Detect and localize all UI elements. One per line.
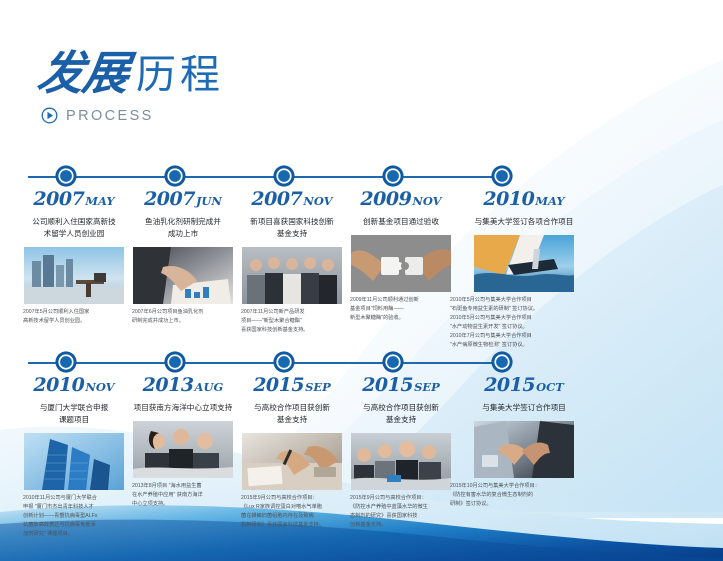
card-heading-line: 术留学人员创业园 xyxy=(22,228,126,240)
card-caption-line: 2015年10月公司与集美大学合作项目： xyxy=(450,482,598,491)
card-year: 2015 xyxy=(362,374,413,396)
card-month: SEP xyxy=(305,380,331,394)
card-caption-line: 申报 "厦门市杰出青年科技人才 xyxy=(23,503,125,512)
card-heading: 项目获南方海洋中心立项支持 xyxy=(131,402,235,414)
card-caption-line: 创新计划——青蟹抗病毒型ALFs xyxy=(23,512,125,521)
card-caption: 2007年6月公司项目鱼油乳化剂研制完成并成功上市。 xyxy=(131,308,235,326)
poster-subtitle-label: PROCESS xyxy=(66,108,154,124)
card-heading: 与高校合作项目获创新基金支持 xyxy=(240,402,344,426)
card-caption-line: 创新基金支持。 xyxy=(350,521,452,530)
timeline-node-2007-nov[interactable] xyxy=(272,164,296,188)
timeline-node-2010-may[interactable] xyxy=(490,164,514,188)
card-year: 2010 xyxy=(483,188,534,210)
card-caption-line: 新型木聚糖酶"的验收。 xyxy=(350,314,452,323)
card-date: 2009NOV xyxy=(349,188,453,210)
card-heading: 公司顺利入住国家高新技术留学人员创业园 xyxy=(22,216,126,240)
card-month: JUN xyxy=(196,194,222,208)
card-caption-line: 菌在鳗鲡旧菌组胞内存在及致病 xyxy=(241,512,343,521)
card-heading-line: 与高校合作项目获创新 xyxy=(240,402,344,414)
business-people-conference-table-photo[interactable] xyxy=(351,433,451,490)
card-date: 2010NOV xyxy=(22,374,126,396)
card-heading-line: 与集美大学签订各项合作项目 xyxy=(449,216,599,228)
hands-writing-documents-meeting-photo[interactable] xyxy=(242,433,342,490)
timeline-card[interactable]: 2010NOV与厦门大学联合申报课题项目 2010年11月公司与厦门大学联合申报… xyxy=(22,374,126,539)
card-year: 2009 xyxy=(360,188,411,210)
card-heading-line: 成功上市 xyxy=(131,228,235,240)
card-heading-line: 课题项目 xyxy=(22,414,126,426)
card-caption: 2015年10月公司与集美大学合作项目：《防控有害水华的复合微生态制剂的研制》签… xyxy=(449,482,599,509)
card-year: 2013 xyxy=(143,374,194,396)
card-caption-line: 2010年5月公司与集美大学合作项目 xyxy=(450,314,598,323)
timeline-card[interactable]: 2007MAY公司顺利入住国家高新技术留学人员创业园 2007年5月公司顺利入住… xyxy=(22,188,126,326)
card-caption-line: 喜获国家科技创新基金支持。 xyxy=(241,326,343,335)
card-heading: 新项目喜获国家科技创新基金支持 xyxy=(240,216,344,240)
card-caption-line: 在水产养殖中应用" 获南方海洋 xyxy=(132,491,234,500)
timeline-node-2007-may[interactable] xyxy=(54,164,78,188)
card-heading-line: 基金支持 xyxy=(240,228,344,240)
card-caption-line: 加剂研究" 课题项目。 xyxy=(23,530,125,539)
card-caption-line: 项目——"新型木聚合糖酯" xyxy=(241,317,343,326)
card-caption-line: 2010年11月公司与厦门大学联合 xyxy=(23,494,125,503)
card-caption-line: 抗菌肽高效表达与抗病毒免疫添 xyxy=(23,521,125,530)
poster-subtitle: PROCESS xyxy=(41,107,224,124)
card-caption: 2015年9月公司与高校合作项目：《防控水产养殖中蓝藻水华的微生态制剂的研究》喜… xyxy=(349,494,453,530)
page-title-plain: 历程 xyxy=(136,55,224,95)
card-date: 2013AUG xyxy=(131,374,235,396)
card-month: OCT xyxy=(536,380,564,394)
card-date: 2015SEP xyxy=(240,374,344,396)
card-caption-line: 2007年6月公司项目鱼油乳化剂 xyxy=(132,308,234,317)
card-heading-line: 与集美大学签订合作项目 xyxy=(449,402,599,414)
card-caption-line: 态制剂的研究》喜获国家科技 xyxy=(350,512,452,521)
timeline-card[interactable]: 2013AUG项目获南方海洋中心立项支持 2013年8月项目 "海水用益生菌在水… xyxy=(131,374,235,509)
poster-header: 发展 历程 PROCESS xyxy=(38,50,224,124)
card-caption-line: 基金项目"饲料用酶—— xyxy=(350,305,452,314)
card-heading: 与高校合作项目获创新基金支持 xyxy=(349,402,453,426)
business-women-meeting-photo[interactable] xyxy=(133,421,233,478)
card-caption-line: 2007年11月公司新产品研发 xyxy=(241,308,343,317)
card-caption-line: "石斑鱼专用益生素的研制" 签订协议。 xyxy=(450,305,598,314)
card-heading: 与集美大学签订合作项目 xyxy=(449,402,599,414)
card-heading-line: 创新基金项目通过验收 xyxy=(349,216,453,228)
card-caption-line: 《防控有害水华的复合微生态制剂的 xyxy=(450,491,598,500)
card-heading-line: 公司顺利入住国家高新技 xyxy=(22,216,126,228)
card-caption-line: 《防控水产养殖中蓝藻水华的微生 xyxy=(350,503,452,512)
card-heading-line: 鱼油乳化剂研制完成并 xyxy=(131,216,235,228)
card-date: 2007NOV xyxy=(240,188,344,210)
card-caption-line: 研制完成并成功上市。 xyxy=(132,317,234,326)
timeline-card[interactable]: 2007JUN鱼油乳化剂研制完成并成功上市 2007年6月公司项目鱼油乳化剂研制… xyxy=(131,188,235,326)
timeline-card[interactable]: 2015SEP与高校合作项目获创新基金支持 2015年9月公司与高校合作项目：《… xyxy=(349,374,453,530)
timeline-card[interactable]: 2015OCT与集美大学签订合作项目 2015年10月公司与集美大学合作项目：《… xyxy=(449,374,599,509)
timeline-card[interactable]: 2007NOV新项目喜获国家科技创新基金支持 2007年11月公司新产品研发项目… xyxy=(240,188,344,335)
card-caption-line: 机制研究》喜获国家科技基金支持。 xyxy=(241,521,343,530)
blue-glass-skyscraper-photo[interactable] xyxy=(24,433,124,490)
timeline-node-2015-sep[interactable] xyxy=(272,350,296,374)
business-team-standing-group-photo[interactable] xyxy=(242,247,342,304)
card-year: 2015 xyxy=(253,374,304,396)
card-month: SEP xyxy=(414,380,440,394)
card-heading-line: 基金支持 xyxy=(240,414,344,426)
hands-pointing-chart-documents-photo[interactable] xyxy=(133,247,233,304)
timeline-node-2007-jun[interactable] xyxy=(163,164,187,188)
card-caption-line: 2013年8月项目 "海水用益生菌 xyxy=(132,482,234,491)
card-caption-line: 2015年9月公司与高校合作项目： xyxy=(350,494,452,503)
card-heading: 与厦门大学联合申报课题项目 xyxy=(22,402,126,426)
card-caption-line: 高新技术留学人员创业园。 xyxy=(23,317,125,326)
timeline-card[interactable]: 2009NOV创新基金项目通过验收 2009年11月公司顺利通过创新基金项目"饲… xyxy=(349,188,453,323)
page-title-brush: 发展 xyxy=(35,50,131,96)
card-caption-line: 2010年5月公司与集美大学合作项目 xyxy=(450,296,598,305)
city-skyline-office-desk-photo[interactable] xyxy=(24,247,124,304)
card-year: 2010 xyxy=(33,374,84,396)
card-month: NOV xyxy=(303,194,332,208)
card-heading-line: 与高校合作项目获创新 xyxy=(349,402,453,414)
card-date: 2015SEP xyxy=(349,374,453,396)
play-circle-icon xyxy=(41,107,58,124)
card-caption: 2013年8月项目 "海水用益生菌在水产养殖中应用" 获南方海洋中心立项支持。 xyxy=(131,482,235,509)
card-year: 2015 xyxy=(484,374,535,396)
card-year: 2007 xyxy=(144,188,195,210)
card-heading: 与集美大学签订各项合作项目 xyxy=(449,216,599,228)
card-heading: 创新基金项目通过验收 xyxy=(349,216,453,228)
card-caption: 2009年11月公司顺利通过创新基金项目"饲料用酶——新型木聚糖酶"的验收。 xyxy=(349,296,453,323)
card-date: 2015OCT xyxy=(449,374,599,396)
timeline-node-2009-nov[interactable] xyxy=(381,164,405,188)
card-heading-line: 与厦门大学联合申报 xyxy=(22,402,126,414)
sailboat-sailing-ocean-photo[interactable] xyxy=(474,235,574,292)
timeline-card[interactable]: 2015SEP与高校合作项目获创新基金支持 2015年9月公司与高校合作项目：《… xyxy=(240,374,344,530)
card-caption: 2010年11月公司与厦门大学联合申报 "厦门市杰出青年科技人才创新计划——青蟹… xyxy=(22,494,126,539)
timeline-node-2010-nov[interactable] xyxy=(54,350,78,374)
card-caption-line: 2010年7月公司与集美大学合作项目 xyxy=(450,332,598,341)
card-caption: 2007年11月公司新产品研发项目——"新型木聚合糖酯"喜获国家科技创新基金支持… xyxy=(240,308,344,335)
timeline-node-2013-aug[interactable] xyxy=(163,350,187,374)
hands-joining-puzzle-pieces-photo[interactable] xyxy=(351,235,451,292)
card-caption-line: 2007年5月公司顺利入住国家 xyxy=(23,308,125,317)
card-month: NOV xyxy=(85,380,114,394)
page-title: 发展 历程 xyxy=(38,50,224,96)
card-date: 2010MAY xyxy=(449,188,599,210)
business-handshake-photo[interactable] xyxy=(474,421,574,478)
card-month: MAY xyxy=(85,194,114,208)
card-date: 2007MAY xyxy=(22,188,126,210)
timeline-card[interactable]: 2010MAY与集美大学签订各项合作项目 2010年5月公司与集美大学合作项目"… xyxy=(449,188,599,350)
card-year: 2007 xyxy=(33,188,84,210)
card-month: NOV xyxy=(412,194,441,208)
card-caption-line: "水产动物益生素开发" 签订协议。 xyxy=(450,323,598,332)
process-timeline-poster: 发展 历程 PROCESS xyxy=(0,0,723,561)
card-caption: 2007年5月公司顺利入住国家高新技术留学人员创业园。 xyxy=(22,308,126,326)
card-heading-line: 新项目喜获国家科技创新 xyxy=(240,216,344,228)
card-heading-line: 基金支持 xyxy=(349,414,453,426)
card-caption-line: 研制》签订协议。 xyxy=(450,500,598,509)
card-year: 2007 xyxy=(251,188,302,210)
card-heading-line: 项目获南方海洋中心立项支持 xyxy=(131,402,235,414)
card-caption-line: 2009年11月公司顺利通过创新 xyxy=(350,296,452,305)
card-heading: 鱼油乳化剂研制完成并成功上市 xyxy=(131,216,235,240)
card-caption-line: 中心立项支持。 xyxy=(132,500,234,509)
card-caption-line: 2015年9月公司与高校合作项目： xyxy=(241,494,343,503)
card-caption-line: 《Lux R家族调控蛋白对嗜水气单胞 xyxy=(241,503,343,512)
card-caption: 2015年9月公司与高校合作项目：《Lux R家族调控蛋白对嗜水气单胞菌在鳗鲡旧… xyxy=(240,494,344,530)
card-date: 2007JUN xyxy=(131,188,235,210)
card-month: MAY xyxy=(535,194,564,208)
timeline-node-2015-sep[interactable] xyxy=(381,350,405,374)
timeline-node-2015-oct[interactable] xyxy=(490,350,514,374)
card-caption: 2010年5月公司与集美大学合作项目"石斑鱼专用益生素的研制" 签订协议。201… xyxy=(449,296,599,351)
card-month: AUG xyxy=(195,380,224,394)
